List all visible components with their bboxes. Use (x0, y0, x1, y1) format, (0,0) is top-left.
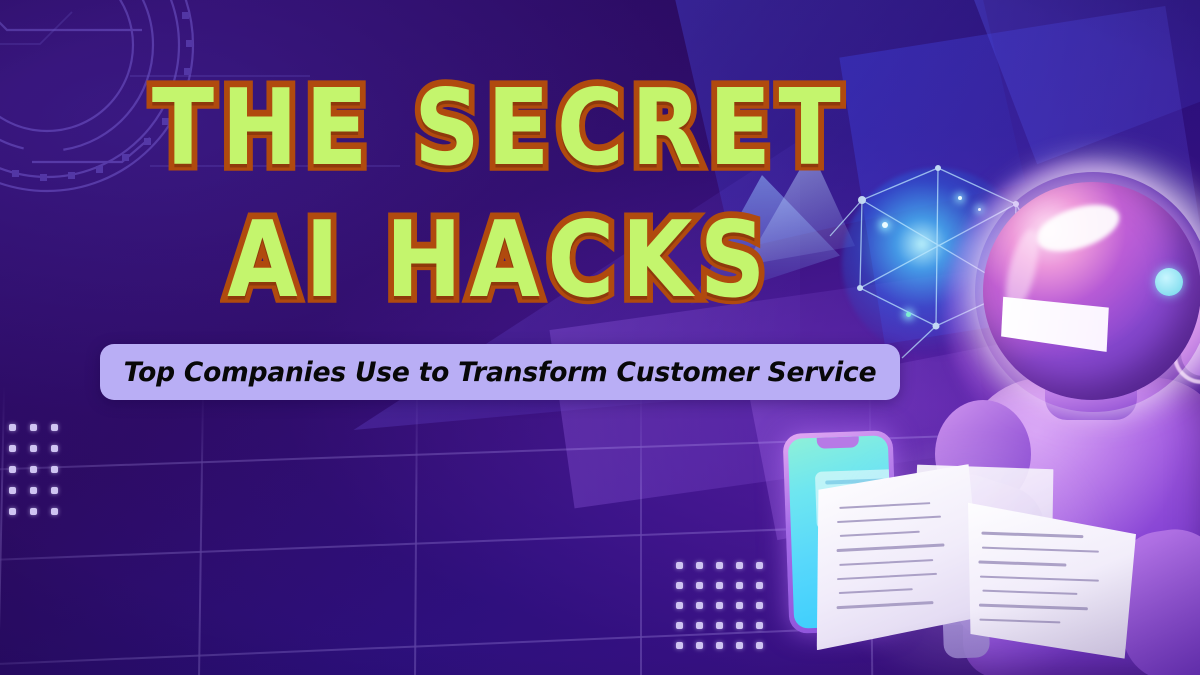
open-book (812, 452, 1132, 662)
dot-grid-center (676, 562, 763, 649)
subtitle-text: Top Companies Use to Transform Customer … (124, 357, 877, 388)
dot-grid-left (0, 424, 58, 515)
headline-line-2: AI HACKS (0, 202, 1030, 319)
phone-notch (817, 436, 859, 448)
subtitle-bar: Top Companies Use to Transform Customer … (100, 344, 900, 400)
headline-line-1: THE SECRET (0, 70, 1030, 187)
headline: THE SECRET AI HACKS (0, 70, 1000, 298)
promo-banner: THE SECRET AI HACKS Top Companies Use to… (0, 0, 1200, 675)
